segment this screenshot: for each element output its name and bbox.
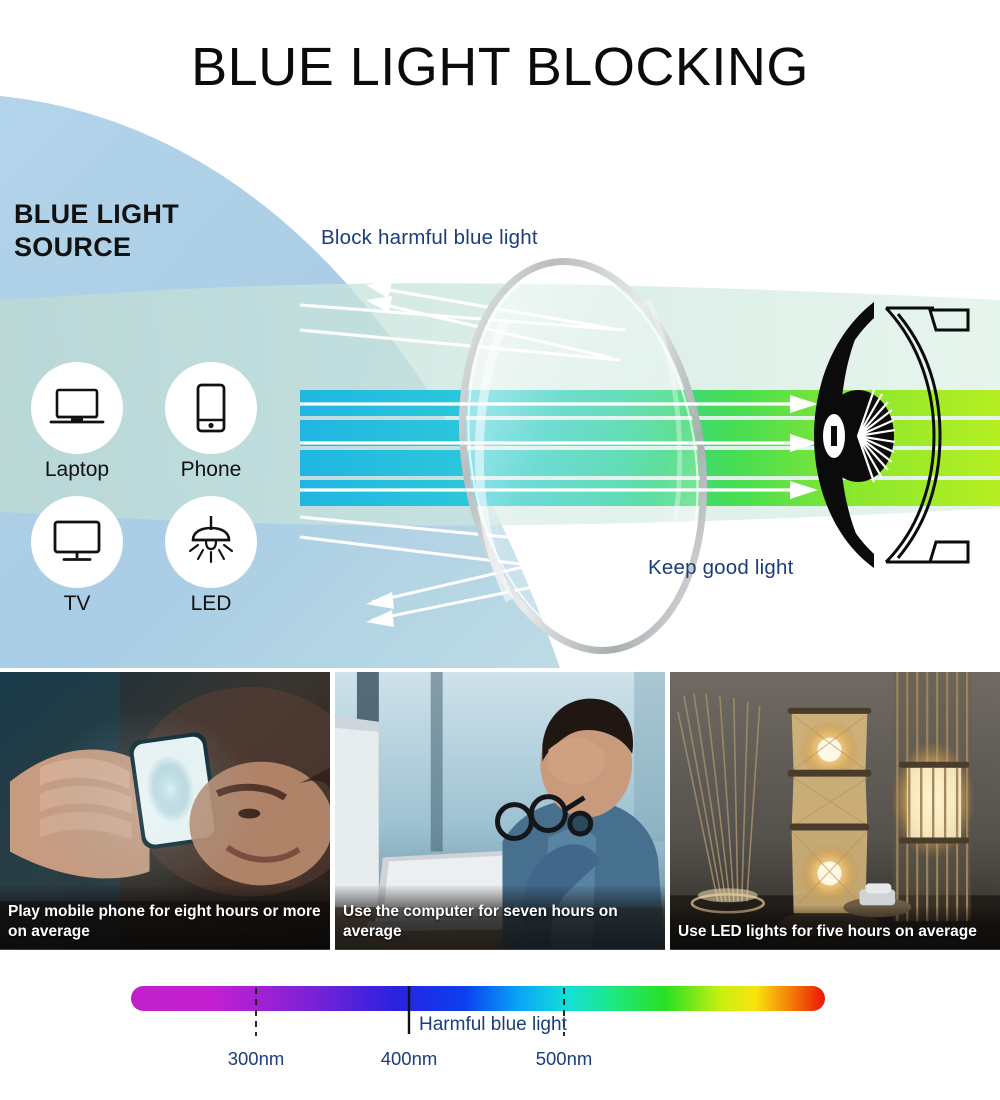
source-heading-line-1: BLUE LIGHT [14, 198, 274, 231]
tick-label-400nm: 400nm [381, 1048, 438, 1070]
device-label: Laptop [24, 458, 130, 482]
photo-caption: Use the computer for seven hours on aver… [335, 886, 665, 950]
device-label: TV [24, 592, 130, 616]
led-lamp-icon-circle [165, 496, 257, 588]
hero-section: BLUE LIGHT BLOCKING BLUE LIGHT SOURCE La… [0, 0, 1000, 668]
photo-caption: Use LED lights for five hours on average [670, 906, 1000, 950]
photo-caption: Play mobile phone for eight hours or mor… [0, 886, 330, 950]
device-laptop: Laptop [24, 362, 130, 482]
photo-card-computer: Use the computer for seven hours on aver… [335, 672, 665, 950]
blue-light-source-device-grid: Laptop Phone [24, 362, 280, 630]
tv-icon [50, 519, 104, 565]
device-led: LED [158, 496, 264, 616]
phone-icon [194, 382, 228, 434]
tv-icon-circle [31, 496, 123, 588]
block-harmful-blue-light-caption: Block harmful blue light [321, 226, 538, 250]
laptop-icon-circle [31, 362, 123, 454]
blue-light-source-heading: BLUE LIGHT SOURCE [14, 198, 274, 264]
harmful-blue-light-annotation: Harmful blue light [419, 1014, 567, 1036]
usage-photo-strip: Play mobile phone for eight hours or mor… [0, 672, 1000, 950]
device-label: LED [158, 592, 264, 616]
device-label: Phone [158, 458, 264, 482]
tick-label-500nm: 500nm [536, 1048, 593, 1070]
device-phone: Phone [158, 362, 264, 482]
laptop-icon [49, 386, 105, 430]
light-spectrum-chart: Harmful blue light 300nm 400nm 500nm [0, 952, 1000, 1100]
phone-icon-circle [165, 362, 257, 454]
device-tv: TV [24, 496, 130, 616]
photo-card-phone: Play mobile phone for eight hours or mor… [0, 672, 330, 950]
tick-label-300nm: 300nm [228, 1048, 285, 1070]
keep-good-light-caption: Keep good light [648, 556, 793, 580]
photo-card-led: Use LED lights for five hours on average [670, 672, 1000, 950]
led-lamp-icon [183, 514, 239, 570]
source-heading-line-2: SOURCE [14, 231, 274, 264]
page-title: BLUE LIGHT BLOCKING [0, 36, 1000, 98]
